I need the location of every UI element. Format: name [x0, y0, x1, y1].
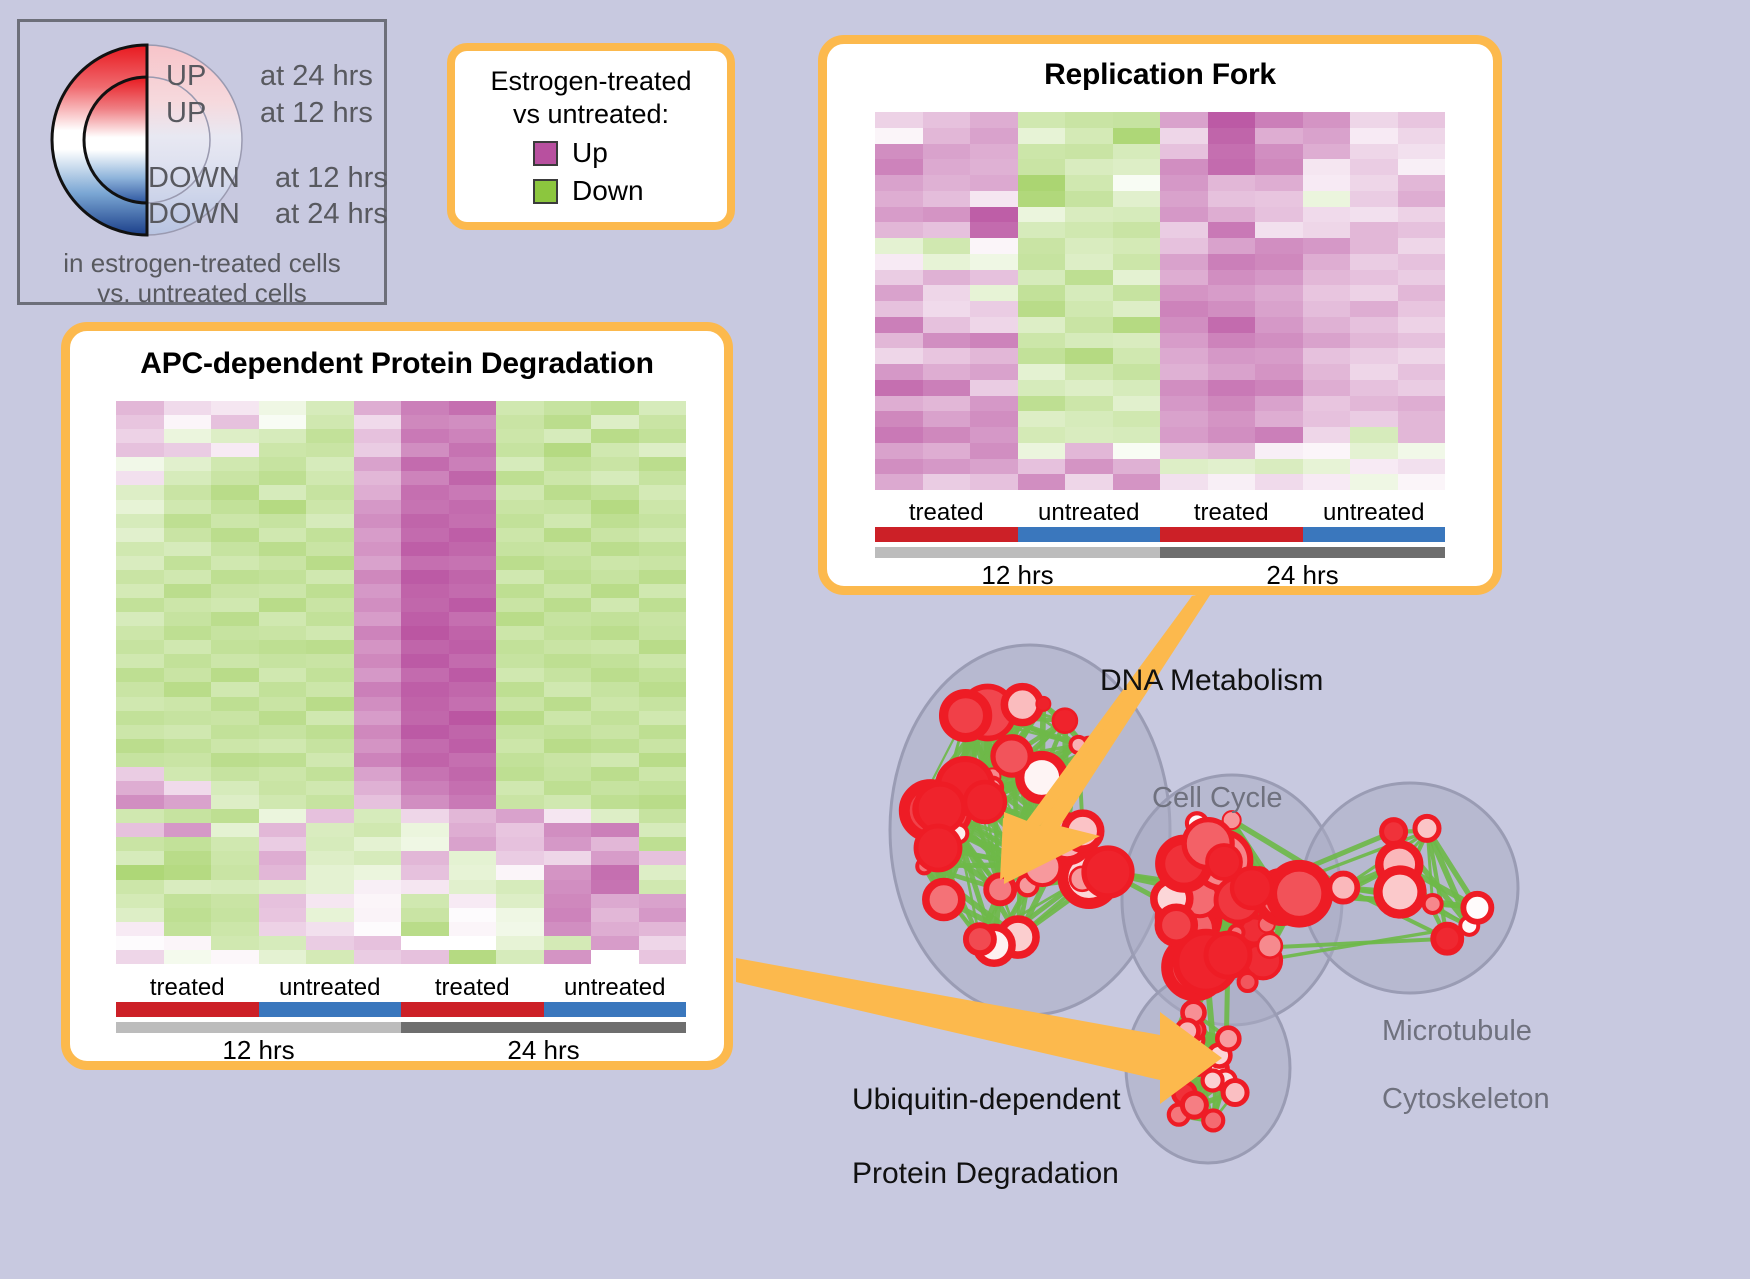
network-node: [1209, 957, 1223, 971]
heatmap-cell: [591, 654, 639, 668]
heatmap-cell: [875, 144, 923, 160]
heatmap-cell: [1208, 443, 1256, 459]
heatmap-cell: [401, 682, 449, 696]
network-edge: [1208, 844, 1212, 862]
network-edge: [1205, 886, 1282, 897]
network-edge: [1208, 844, 1271, 891]
heatmap-cell: [1208, 364, 1256, 380]
network-edge: [1394, 831, 1429, 832]
network-edge: [1433, 904, 1470, 926]
heatmap-cell: [164, 880, 212, 894]
network-edge: [988, 713, 1042, 778]
heatmap-cell: [1303, 144, 1351, 160]
network-edge: [1028, 878, 1089, 886]
network-edge: [1170, 890, 1191, 929]
network-edge: [934, 809, 944, 810]
heatmap-cell: [449, 500, 497, 514]
heatmap-cell: [496, 753, 544, 767]
network-edge: [1222, 860, 1236, 932]
heatmap-cell: [259, 894, 307, 908]
key-item-up: Up: [533, 137, 727, 169]
network-edge: [1216, 953, 1226, 964]
network-edge: [1193, 1039, 1228, 1040]
network-edge: [1206, 962, 1215, 1070]
network-edge: [1210, 893, 1299, 894]
heatmap-cell: [970, 207, 1018, 223]
heatmap-cell: [496, 880, 544, 894]
heatmap-cell: [544, 598, 592, 612]
heatmap-cell: [1018, 222, 1066, 238]
heatmap-cell: [639, 851, 687, 865]
network-edge: [1194, 1030, 1199, 1064]
heatmap-cell: [211, 570, 259, 584]
heatmap-cell: [591, 837, 639, 851]
network-edge: [1179, 888, 1252, 906]
heatmap-cell: [639, 457, 687, 471]
network-edge: [965, 700, 988, 786]
network-edge: [1447, 926, 1469, 939]
network-edge: [1219, 1039, 1228, 1056]
network-edge: [920, 805, 1108, 872]
network-edge: [1108, 872, 1205, 886]
network-edge: [1267, 894, 1299, 925]
network-node: [1240, 916, 1268, 944]
network-edge: [985, 704, 1043, 802]
heatmap-cell: [1303, 474, 1351, 490]
network-edge: [920, 776, 993, 804]
network-edge: [1176, 925, 1247, 982]
heatmap-cell: [875, 411, 923, 427]
heatmap-cell: [164, 682, 212, 696]
network-edge: [1224, 862, 1282, 897]
network-edge: [1259, 877, 1282, 897]
network-edge: [1238, 888, 1252, 900]
heatmap-cell: [1113, 301, 1161, 317]
heatmap-cell: [211, 598, 259, 612]
network-edge: [958, 778, 1035, 834]
heatmap-cell: [639, 626, 687, 640]
network-edge: [985, 802, 1000, 889]
heatmap-cell: [496, 837, 544, 851]
network-edge: [1189, 917, 1254, 930]
heatmap-cell: [1398, 144, 1446, 160]
heatmap-cell: [1303, 207, 1351, 223]
heatmap-cell: [496, 809, 544, 823]
network-node: [1183, 1002, 1205, 1024]
heatmap-cell: [496, 626, 544, 640]
heatmap-cell: [1160, 317, 1208, 333]
network-edge: [1195, 964, 1216, 967]
heatmap-apc-group-labels: treateduntreatedtreateduntreated: [116, 974, 686, 1002]
heatmap-cell: [496, 908, 544, 922]
heatmap-cell: [1398, 459, 1446, 475]
network-edge: [1210, 860, 1222, 893]
network-node: [1252, 870, 1266, 884]
network-edge: [924, 808, 940, 866]
heatmap-cell: [164, 654, 212, 668]
heatmap-cell: [923, 443, 971, 459]
heatmap-cell: [1113, 144, 1161, 160]
network-edge: [1022, 705, 1078, 745]
network-edge: [942, 700, 988, 806]
network-edge: [1259, 878, 1271, 890]
network-edge: [1012, 757, 1067, 839]
network-edge: [1020, 778, 1035, 864]
heatmap-cell: [639, 837, 687, 851]
heatmap-cell: [875, 254, 923, 270]
heatmap-cell: [116, 880, 164, 894]
heatmap-cell: [1208, 333, 1256, 349]
network-edge: [934, 809, 938, 848]
network-node: [982, 778, 1002, 798]
heatmap-cell: [401, 457, 449, 471]
network-edge: [965, 778, 1035, 786]
cluster-label-ubiquitin-line1: Ubiquitin-dependent: [852, 1081, 1121, 1118]
heatmap-cell: [1398, 159, 1446, 175]
heatmap-cell: [354, 556, 402, 570]
heatmap-cell: [306, 542, 354, 556]
network-edge: [934, 808, 940, 809]
network-edge: [1184, 1093, 1194, 1105]
network-edge: [1263, 946, 1270, 961]
network-node: [1053, 709, 1077, 733]
heatmap-cell: [923, 364, 971, 380]
network-edge: [1226, 955, 1228, 1080]
heatmap-cell: [354, 767, 402, 781]
group-label: treated: [1160, 499, 1303, 527]
heatmap-cell: [449, 950, 497, 964]
network-edge: [1210, 893, 1238, 900]
heatmap-cell: [211, 837, 259, 851]
network-edge: [958, 833, 1000, 889]
network-edge: [1208, 844, 1233, 853]
heatmap-cell: [211, 711, 259, 725]
network-edge: [1232, 820, 1344, 887]
network-edge: [1184, 864, 1188, 918]
heatmap-cell: [1303, 459, 1351, 475]
network-edge: [1232, 820, 1282, 897]
network-edge: [944, 811, 1043, 868]
network-edge: [930, 811, 944, 900]
heatmap-cell: [259, 865, 307, 879]
heatmap-cell: [639, 908, 687, 922]
network-edge: [1184, 864, 1205, 887]
heatmap-cell: [591, 485, 639, 499]
network-edge: [1216, 960, 1263, 964]
heatmap-cell: [1065, 270, 1113, 286]
network-edge: [1172, 862, 1224, 899]
heatmap-cell: [1113, 175, 1161, 191]
network-edge: [938, 802, 985, 848]
network-edge: [1231, 878, 1260, 884]
group-color-bar: [875, 527, 1018, 542]
heatmap-cell: [354, 429, 402, 443]
updown-key-title: Estrogen-treated vs untreated:: [455, 65, 727, 131]
network-edge: [1187, 1031, 1219, 1055]
network-edge: [1208, 844, 1252, 888]
heatmap-cell: [164, 795, 212, 809]
heatmap-cell: [544, 612, 592, 626]
network-edge: [1205, 886, 1433, 904]
network-edge: [1189, 917, 1228, 955]
heatmap-cell: [591, 753, 639, 767]
network-edge: [1270, 894, 1299, 946]
heatmap-cell: [1113, 459, 1161, 475]
heatmap-cell: [970, 254, 1018, 270]
heatmap-cell: [1113, 207, 1161, 223]
network-edge: [1210, 893, 1228, 955]
network-edge: [1170, 860, 1223, 890]
heatmap-cell: [164, 781, 212, 795]
network-edge: [988, 700, 1065, 721]
network-edge: [1189, 832, 1394, 918]
heatmap-cell: [354, 598, 402, 612]
heatmap-cell: [306, 471, 354, 485]
network-edge: [1179, 891, 1271, 907]
network-edge: [1206, 932, 1237, 962]
network-edge: [992, 776, 1019, 864]
heatmap-cell: [1160, 333, 1208, 349]
heatmap-cell: [164, 865, 212, 879]
heatmap-cell: [639, 711, 687, 725]
heatmap-cell: [1018, 396, 1066, 412]
network-edge: [1176, 925, 1250, 948]
heatmap-cell: [591, 908, 639, 922]
network-edge: [1191, 852, 1233, 929]
heatmap-cell: [496, 514, 544, 528]
heatmap-cell: [1255, 254, 1303, 270]
network-edge: [1067, 831, 1083, 839]
heatmap-cell: [1350, 317, 1398, 333]
heatmap-cell: [1018, 285, 1066, 301]
heatmap-cell: [449, 725, 497, 739]
heatmap-cell: [1018, 427, 1066, 443]
network-edge: [1228, 891, 1271, 955]
network-edge: [1224, 862, 1238, 900]
heatmap-cell: [1018, 364, 1066, 380]
heatmap-cell: [496, 584, 544, 598]
heatmap-cell: [544, 781, 592, 795]
network-node: [1232, 868, 1272, 908]
network-edge: [1224, 862, 1231, 884]
heatmap-cell: [875, 317, 923, 333]
network-edge: [1259, 877, 1299, 894]
network-edge: [1222, 860, 1238, 900]
network-edge: [1172, 1045, 1235, 1093]
heatmap-cell: [354, 950, 402, 964]
heatmap-cell: [639, 697, 687, 711]
network-edge: [1211, 852, 1233, 864]
network-edge: [1210, 893, 1270, 946]
heatmap-cell: [639, 584, 687, 598]
heatmap-replication-group-labels: treateduntreatedtreateduntreated: [875, 499, 1445, 527]
heatmap-cell: [1398, 443, 1446, 459]
heatmap-cell: [259, 485, 307, 499]
network-edge: [1170, 890, 1228, 955]
heatmap-cell: [544, 570, 592, 584]
heatmap-cell: [1303, 128, 1351, 144]
heatmap-cell: [306, 626, 354, 640]
heatmap-cell: [116, 697, 164, 711]
network-edge: [1226, 1080, 1236, 1092]
heatmap-cell: [1113, 285, 1161, 301]
network-edge: [992, 705, 1022, 777]
heatmap-cell: [1113, 474, 1161, 490]
network-edge: [924, 866, 1000, 889]
heatmap-cell: [1350, 427, 1398, 443]
network-edge: [930, 811, 958, 834]
network-edge: [1248, 946, 1270, 982]
heatmap-cell: [639, 415, 687, 429]
network-edge: [1184, 864, 1259, 878]
network-edge: [1216, 932, 1236, 964]
network-node: [1187, 813, 1207, 833]
network-edge: [1012, 756, 1067, 839]
heatmap-cell: [875, 191, 923, 207]
network-edge: [1189, 917, 1191, 929]
network-edge: [1212, 862, 1237, 933]
heatmap-cell: [923, 317, 971, 333]
heatmap-cell: [1160, 285, 1208, 301]
heatmap-cell: [544, 485, 592, 499]
network-edge: [1200, 897, 1282, 898]
network-edge: [988, 700, 989, 713]
heatmap-cell: [591, 556, 639, 570]
down-swatch-icon: [533, 179, 558, 204]
network-edge: [988, 700, 1035, 778]
heatmap-cell: [639, 767, 687, 781]
heatmap-cell: [1113, 333, 1161, 349]
network-edge: [938, 786, 965, 848]
heatmap-cell: [970, 112, 1018, 128]
heatmap-cell: [401, 485, 449, 499]
heatmap-cell: [1350, 301, 1398, 317]
network-edge: [1065, 721, 1090, 750]
heatmap-cell: [1018, 238, 1066, 254]
heatmap-cell: [1303, 285, 1351, 301]
network-edge: [1035, 745, 1079, 778]
network-edge: [1211, 864, 1250, 948]
heatmap-cell: [1113, 270, 1161, 286]
legend-row-2-time: at 12 hrs: [275, 162, 388, 195]
network-edge: [994, 879, 1082, 945]
heatmap-replication-time-labels: 12 hrs24 hrs: [875, 560, 1445, 591]
network-edge: [1065, 721, 1067, 839]
heatmap-cell: [1255, 159, 1303, 175]
network-edge: [1083, 831, 1089, 877]
heatmap-cell: [211, 739, 259, 753]
heatmap-cell: [496, 922, 544, 936]
heatmap-replication: [875, 112, 1445, 490]
network-node: [1177, 858, 1233, 914]
network-edge: [1172, 899, 1228, 955]
network-edge: [1211, 864, 1237, 932]
heatmap-cell: [116, 795, 164, 809]
network-edge: [1179, 1080, 1226, 1114]
network-edge: [958, 833, 1019, 863]
heatmap-cell: [259, 936, 307, 950]
heatmap-cell: [639, 753, 687, 767]
network-edge: [1170, 890, 1180, 906]
heatmap-cell: [259, 457, 307, 471]
network-node: [1245, 942, 1281, 978]
network-edge: [988, 704, 1044, 713]
network-edge: [1184, 1013, 1193, 1094]
heatmap-cell: [354, 922, 402, 936]
heatmap-cell: [306, 725, 354, 739]
heatmap-cell: [116, 528, 164, 542]
network-edge: [985, 788, 992, 802]
heatmap-cell: [211, 894, 259, 908]
network-edge: [944, 811, 1000, 890]
heatmap-cell: [354, 415, 402, 429]
heatmap-cell: [923, 396, 971, 412]
network-edge: [1179, 864, 1210, 907]
network-node: [1223, 1081, 1247, 1105]
network-edge: [1231, 884, 1272, 890]
network-edge: [965, 776, 992, 786]
network-edge: [1170, 864, 1211, 891]
heatmap-cell: [354, 837, 402, 851]
heatmap-cell: [496, 795, 544, 809]
network-node: [1000, 919, 1036, 955]
heatmap-cell: [1303, 301, 1351, 317]
heatmap-cell: [306, 500, 354, 514]
network-edge: [944, 713, 988, 811]
heatmap-cell: [1160, 254, 1208, 270]
heatmap-replication-group-bar: [875, 527, 1445, 542]
network-edge: [1206, 962, 1216, 964]
network-edge: [1172, 962, 1206, 1045]
panel-apc-title: APC-dependent Protein Degradation: [70, 347, 724, 381]
network-edge: [1172, 899, 1251, 949]
network-edge: [1259, 878, 1282, 897]
network-node: [965, 782, 1005, 822]
heatmap-cell: [354, 668, 402, 682]
heatmap-cell: [306, 570, 354, 584]
network-edge: [1226, 897, 1282, 953]
heatmap-cell: [259, 922, 307, 936]
network-node: [1167, 905, 1215, 953]
network-edge: [1179, 1115, 1213, 1121]
heatmap-cell: [875, 270, 923, 286]
heatmap-cell: [164, 514, 212, 528]
heatmap-cell: [591, 612, 639, 626]
network-edge: [1232, 820, 1233, 852]
heatmap-cell: [259, 682, 307, 696]
network-edge: [1213, 1039, 1228, 1121]
heatmap-cell: [211, 415, 259, 429]
heatmap-cell: [591, 781, 639, 795]
network-edge: [1433, 904, 1478, 908]
heatmap-cell: [923, 222, 971, 238]
heatmap-cell: [1350, 459, 1398, 475]
heatmap-cell: [306, 809, 354, 823]
network-edge: [1083, 831, 1108, 872]
network-edge: [965, 786, 1020, 864]
heatmap-cell: [259, 556, 307, 570]
key-item-up-label: Up: [572, 137, 608, 169]
network-edge: [1343, 888, 1400, 892]
heatmap-cell: [449, 584, 497, 598]
ring-legend-box: UP at 24 hrs UP at 12 hrs DOWN at 12 hrs…: [17, 19, 387, 305]
network-edge: [1199, 1064, 1215, 1070]
network-edge: [1254, 924, 1267, 930]
heatmap-cell: [449, 570, 497, 584]
network-edge: [1172, 1013, 1194, 1045]
network-edge: [1211, 864, 1238, 900]
heatmap-cell: [1160, 159, 1208, 175]
